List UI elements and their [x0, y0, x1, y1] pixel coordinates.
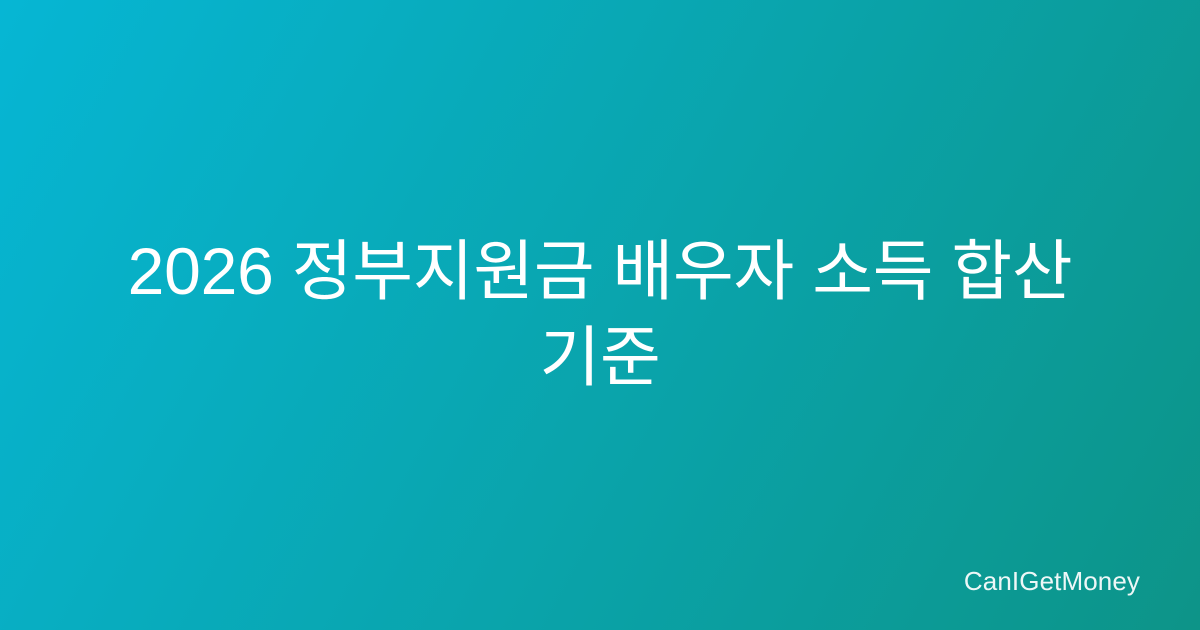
title-container: 2026 정부지원금 배우자 소득 합산 기준 [0, 0, 1200, 630]
og-card: 2026 정부지원금 배우자 소득 합산 기준 CanIGetMoney [0, 0, 1200, 630]
brand-watermark: CanIGetMoney [964, 568, 1140, 594]
page-title: 2026 정부지원금 배우자 소득 합산 기준 [64, 229, 1136, 401]
